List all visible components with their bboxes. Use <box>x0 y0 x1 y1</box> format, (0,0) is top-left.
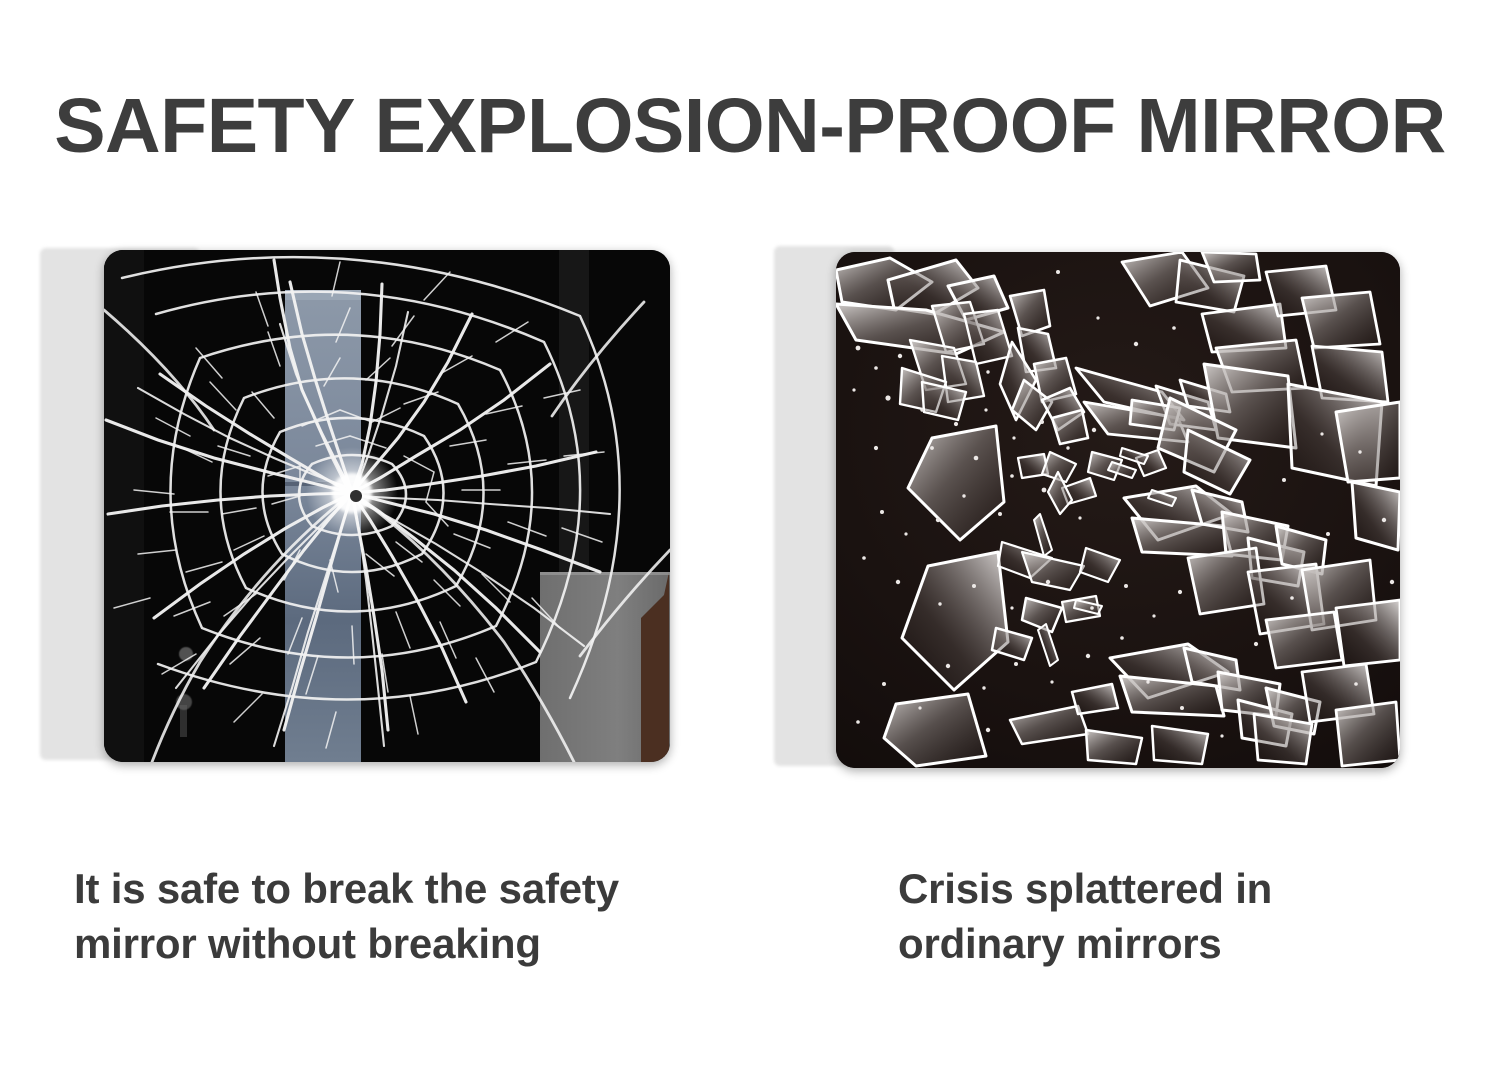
page-title: SAFETY EXPLOSION-PROOF MIRROR <box>0 88 1500 165</box>
caption-left-line-2: mirror without breaking <box>74 917 734 972</box>
caption-right: Crisis splattered in ordinary mirrors <box>898 862 1418 971</box>
caption-left: It is safe to break the safety mirror wi… <box>74 862 734 971</box>
caption-right-line-2: ordinary mirrors <box>898 917 1418 972</box>
caption-right-line-1: Crisis splattered in <box>898 862 1418 917</box>
image-shattered-ordinary-mirror <box>836 252 1400 768</box>
poster-root: SAFETY EXPLOSION-PROOF MIRROR <box>0 0 1500 1092</box>
glass-shards-illustration <box>836 252 1400 768</box>
cracked-mirror-illustration <box>104 250 670 762</box>
caption-left-line-1: It is safe to break the safety <box>74 862 734 917</box>
image-cracked-safety-mirror <box>104 250 670 762</box>
